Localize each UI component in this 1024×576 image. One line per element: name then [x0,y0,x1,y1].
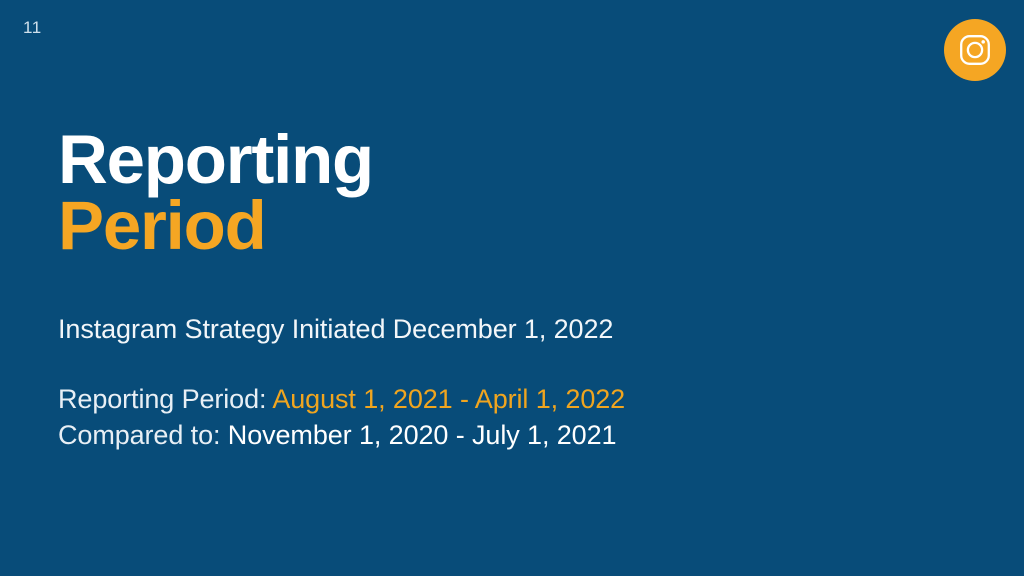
compared-to-line: Compared to: November 1, 2020 - July 1, … [58,417,938,453]
instagram-icon [958,33,992,67]
compared-to-label: Compared to: [58,420,228,450]
reporting-period-line: Reporting Period: August 1, 2021 - April… [58,381,938,417]
slide-canvas: 11 Reporting Period Instagram Strategy I… [0,0,1024,576]
page-title-line-one: Reporting [58,127,758,193]
instagram-badge[interactable] [944,19,1006,81]
compared-to-value: November 1, 2020 - July 1, 2021 [228,420,617,450]
page-title-line-two: Period [58,193,758,259]
strategy-initiated-line: Instagram Strategy Initiated December 1,… [58,311,938,347]
reporting-period-value: August 1, 2021 - April 1, 2022 [272,384,625,414]
page-number: 11 [23,18,42,38]
page-title: Reporting Period [58,127,758,259]
reporting-period-label: Reporting Period: [58,384,272,414]
body-copy: Instagram Strategy Initiated December 1,… [58,311,938,453]
